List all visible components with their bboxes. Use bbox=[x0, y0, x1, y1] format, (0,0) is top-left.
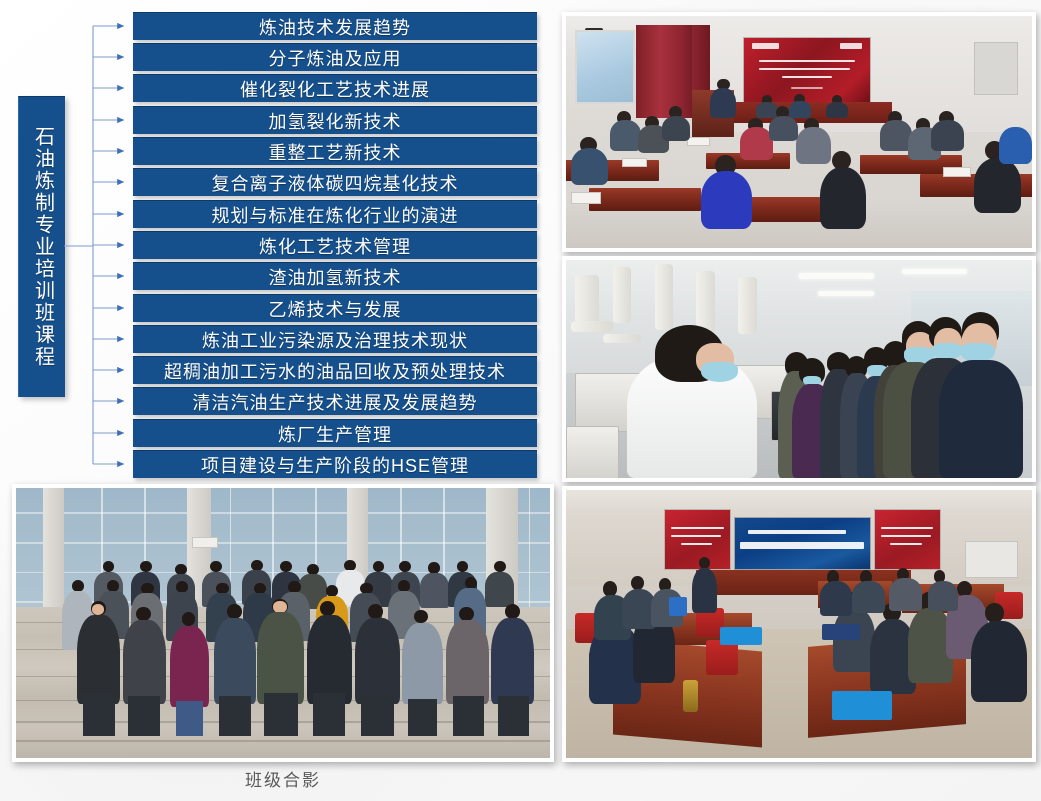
course-box-7[interactable]: 规划与标准在炼化行业的演进 bbox=[133, 200, 537, 228]
course-diagram: 石油炼制专业培训班课程 bbox=[0, 0, 556, 482]
course-label: 项目建设与生产阶段的HSE管理 bbox=[201, 452, 469, 478]
course-label: 清洁汽油生产技术进展及发展趋势 bbox=[193, 389, 478, 415]
photo-class-group[interactable] bbox=[12, 484, 554, 762]
photo-laboratory-visit[interactable] bbox=[562, 256, 1036, 482]
course-box-9[interactable]: 渣油加氢新技术 bbox=[133, 262, 537, 290]
banner-right-red bbox=[874, 509, 941, 570]
course-label: 规划与标准在炼化行业的演进 bbox=[212, 202, 459, 228]
course-box-8[interactable]: 炼化工艺技术管理 bbox=[133, 231, 537, 259]
course-box-3[interactable]: 催化裂化工艺技术进展 bbox=[133, 74, 537, 102]
course-box-13[interactable]: 清洁汽油生产技术进展及发展趋势 bbox=[133, 387, 537, 415]
course-box-2[interactable]: 分子炼油及应用 bbox=[133, 43, 537, 71]
course-box-10[interactable]: 乙烯技术与发展 bbox=[133, 294, 537, 322]
course-box-6[interactable]: 复合离子液体碳四烷基化技术 bbox=[133, 168, 537, 196]
course-box-11[interactable]: 炼油工业污染源及治理技术现状 bbox=[133, 325, 537, 353]
photo-opening-ceremony[interactable] bbox=[562, 12, 1036, 252]
course-label: 复合离子液体碳四烷基化技术 bbox=[212, 170, 459, 196]
course-label: 分子炼油及应用 bbox=[269, 45, 402, 71]
course-box-12[interactable]: 超稠油加工污水的油品回收及预处理技术 bbox=[133, 356, 537, 384]
banner-center-university bbox=[734, 517, 871, 570]
course-label: 加氢裂化新技术 bbox=[269, 108, 402, 134]
course-label: 渣油加氢新技术 bbox=[269, 264, 402, 290]
slide-canvas: 石油炼制专业培训班课程 bbox=[0, 0, 1041, 801]
course-label: 炼油工业污染源及治理技术现状 bbox=[202, 327, 468, 353]
course-box-5[interactable]: 重整工艺新技术 bbox=[133, 137, 537, 165]
banner-left-red bbox=[664, 509, 731, 570]
course-box-15[interactable]: 项目建设与生产阶段的HSE管理 bbox=[133, 450, 537, 478]
course-box-14[interactable]: 炼厂生产管理 bbox=[133, 419, 537, 447]
course-label: 催化裂化工艺技术进展 bbox=[240, 76, 430, 102]
course-label: 炼化工艺技术管理 bbox=[259, 233, 411, 259]
course-box-1[interactable]: 炼油技术发展趋势 bbox=[133, 12, 537, 40]
course-label: 超稠油加工污水的油品回收及预处理技术 bbox=[164, 358, 506, 384]
course-label: 炼油技术发展趋势 bbox=[259, 14, 411, 40]
course-label: 乙烯技术与发展 bbox=[269, 296, 402, 322]
course-box-4[interactable]: 加氢裂化新技术 bbox=[133, 106, 537, 134]
course-label: 炼厂生产管理 bbox=[278, 421, 392, 447]
group-photo-caption: 班级合影 bbox=[12, 766, 554, 791]
photo-discussion-session[interactable] bbox=[562, 486, 1036, 762]
course-label: 重整工艺新技术 bbox=[269, 139, 402, 165]
